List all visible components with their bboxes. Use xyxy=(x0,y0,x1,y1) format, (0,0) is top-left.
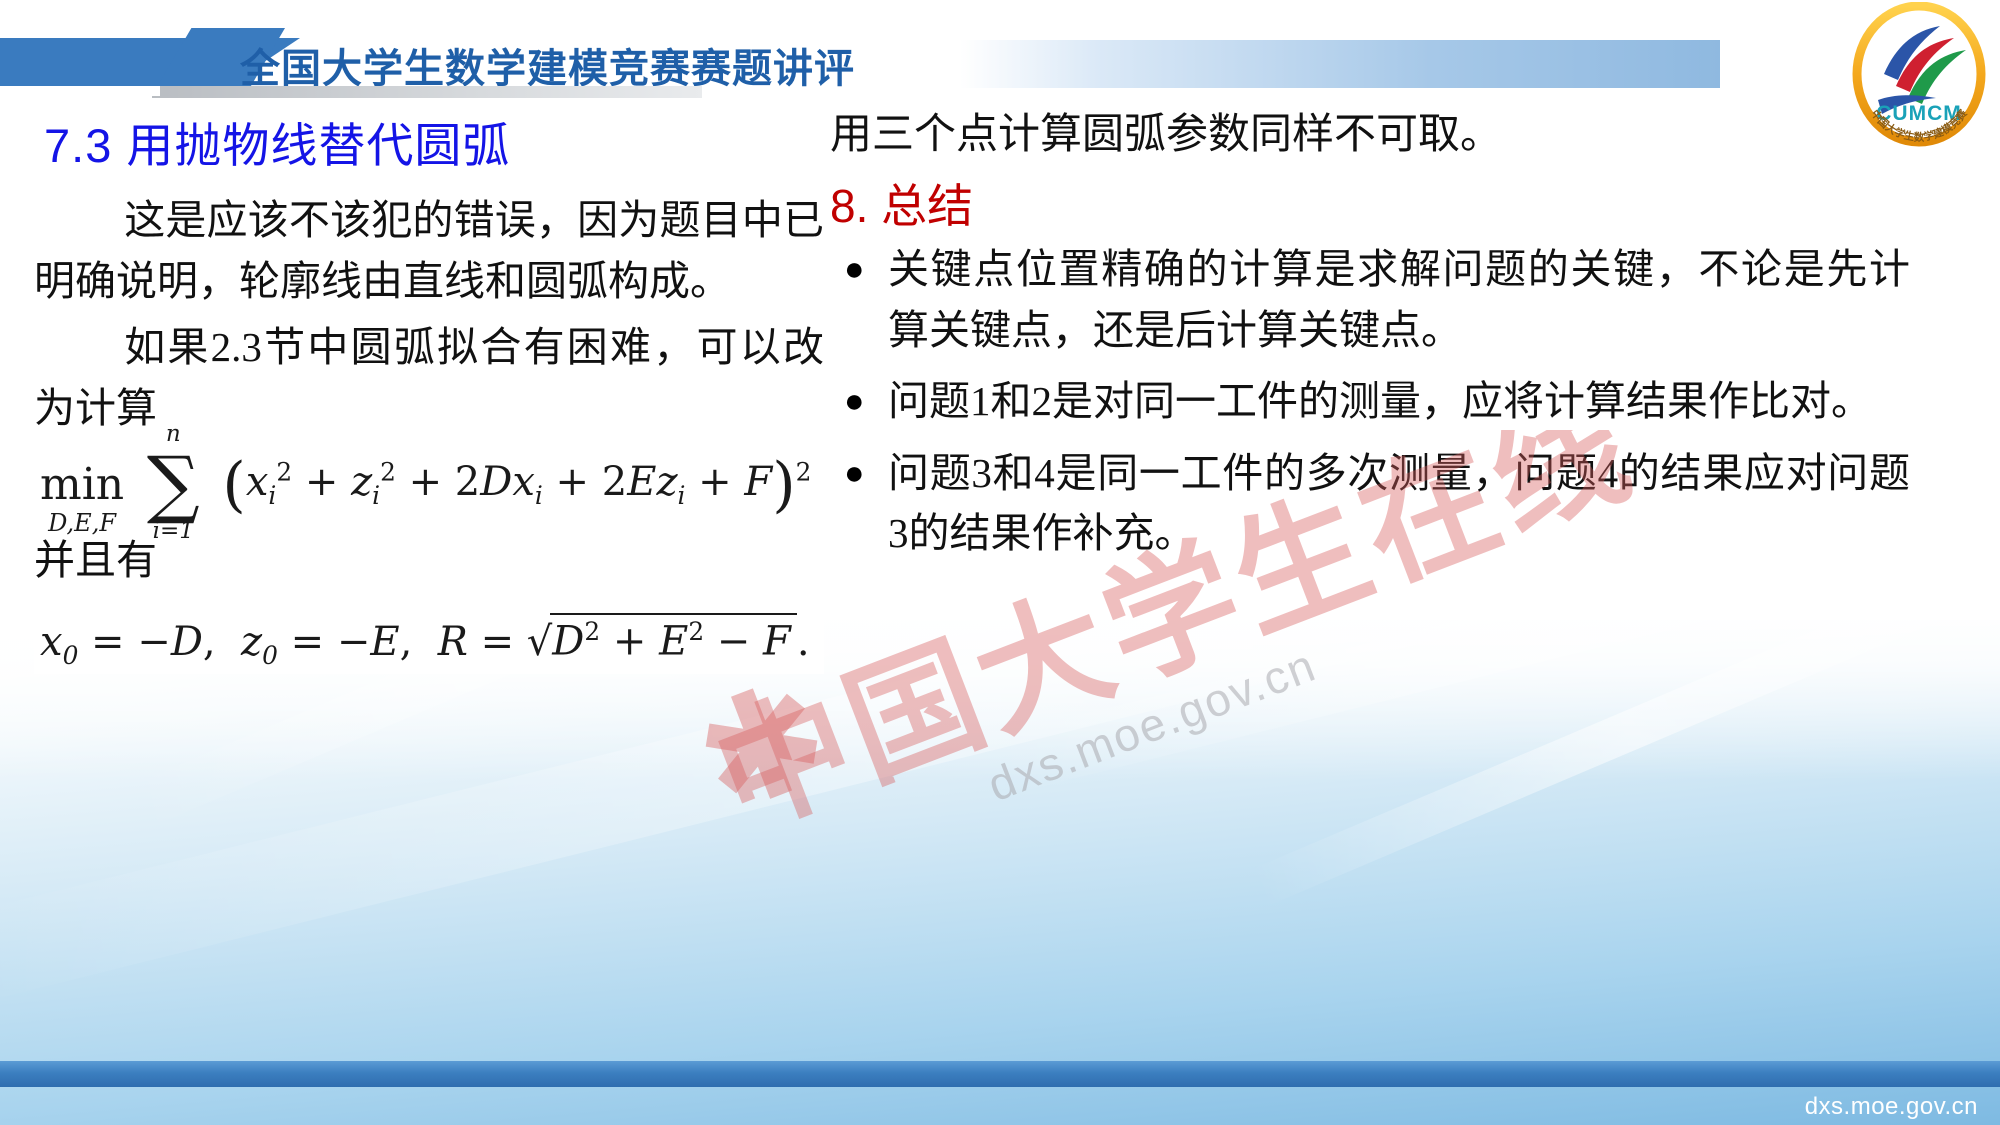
header-gradient-bar xyxy=(960,40,1720,88)
formula-minimization-expression: min D,E,F n ∑ i=1 (xi2 + zi2 + 2Dxi + 2E… xyxy=(40,459,811,505)
bullet-text: 问题3和4是同一工件的多次测量，问题4的结果应对问题3的结果作补充。 xyxy=(888,443,1910,564)
section-heading-8: 8. 总结 xyxy=(830,181,1910,232)
footer-url: dxs.moe.gov.cn xyxy=(1805,1093,1978,1121)
header-underline xyxy=(152,86,702,98)
sum-operator: n ∑ i=1 xyxy=(147,451,200,518)
slide-header: 全国大学生数学建模竞赛赛题讲评 xyxy=(0,14,2000,94)
bullet-text: 问题1和2是对同一工件的测量，应将计算结果作比对。 xyxy=(888,371,1910,433)
open-paren: ( xyxy=(222,450,245,520)
bullet-dot-icon: ● xyxy=(830,239,888,360)
min-subscript: D,E,F xyxy=(40,509,124,537)
left-paragraph-1: 这是应该不该犯的错误，因为题目中已明确说明，轮廓线由直线和圆弧构成。 xyxy=(34,190,824,313)
slide-root: 全国大学生数学建模竞赛赛题讲评 CUMCM 中国大学生数学建模竞赛 xyxy=(0,0,2000,1125)
sum-upper-limit: n xyxy=(147,421,200,447)
list-item: ● 关键点位置精确的计算是求解问题的关键，不论是先计算关键点，还是后计算关键点。 xyxy=(830,239,1910,360)
bullet-dot-icon: ● xyxy=(830,371,888,433)
bullet-text: 关键点位置精确的计算是求解问题的关键，不论是先计算关键点，还是后计算关键点。 xyxy=(888,239,1910,360)
formula-parameters-expression: x0 = −D, z0 = −E, R = √D2 + E2 − F. xyxy=(40,619,810,665)
section-heading-7-3: 7.3 用抛物线替代圆弧 xyxy=(44,120,824,172)
term-D: D xyxy=(480,459,512,505)
header-underline-mask xyxy=(0,86,160,96)
sum-lower-limit: i=1 xyxy=(147,518,200,544)
min-label: min xyxy=(40,463,124,507)
close-paren: ) xyxy=(772,450,795,520)
term-F: F xyxy=(744,459,772,505)
term-E: E xyxy=(627,459,656,505)
summary-bullet-list: ● 关键点位置精确的计算是求解问题的关键，不论是先计算关键点，还是后计算关键点。… xyxy=(830,239,1910,564)
sigma-icon: ∑ xyxy=(147,451,200,518)
formula-minimization: min D,E,F n ∑ i=1 (xi2 + zi2 + 2Dxi + 2E… xyxy=(34,446,824,524)
min-operator: min D,E,F xyxy=(40,463,124,507)
bullet-dot-icon: ● xyxy=(830,443,888,564)
right-lead-line: 用三个点计算圆弧参数同样不可取。 xyxy=(830,108,1910,163)
list-item: ● 问题3和4是同一工件的多次测量，问题4的结果应对问题3的结果作补充。 xyxy=(830,443,1910,564)
term-x: x xyxy=(246,459,269,505)
left-column: 7.3 用抛物线替代圆弧 这是应该不该犯的错误，因为题目中已明确说明，轮廓线由直… xyxy=(34,120,824,680)
list-item: ● 问题1和2是对同一工件的测量，应将计算结果作比对。 xyxy=(830,371,1910,433)
footer-band xyxy=(0,1061,2000,1087)
formula-parameters: x0 = −D, z0 = −E, R = √D2 + E2 − F. xyxy=(34,609,824,673)
right-column: 用三个点计算圆弧参数同样不可取。 8. 总结 ● 关键点位置精确的计算是求解问题… xyxy=(830,108,1910,574)
term-z: z xyxy=(351,459,372,505)
